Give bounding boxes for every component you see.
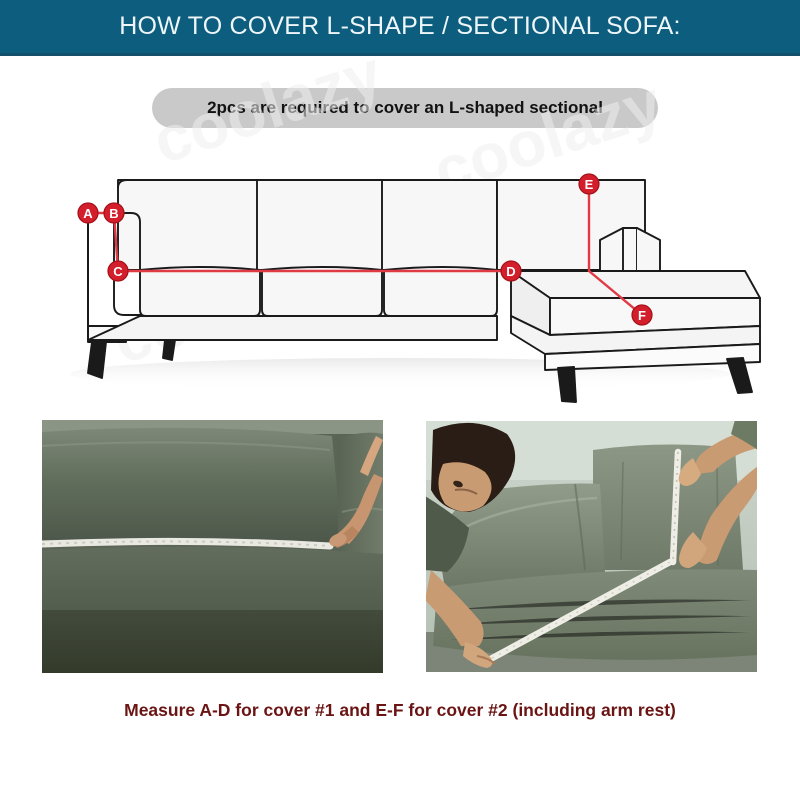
- photo-left-graphic: [42, 420, 383, 673]
- photo-left-vignette: [42, 610, 383, 673]
- marker-d[interactable]: D: [501, 261, 521, 281]
- requirement-banner: 2pcs are required to cover an L-shaped s…: [152, 88, 658, 128]
- seat-cushion-3: [384, 267, 497, 316]
- requirement-banner-label: 2pcs are required to cover an L-shaped s…: [207, 98, 603, 118]
- photo-measure-seat-depth: [42, 420, 383, 673]
- sofa-line-drawing: A B C D E F: [0, 130, 800, 410]
- marker-b-label: B: [109, 206, 118, 221]
- page-title: HOW TO COVER L-SHAPE / SECTIONAL SOFA:: [119, 12, 680, 41]
- bottom-caption-label: Measure A-D for cover #1 and E-F for cov…: [124, 700, 676, 720]
- marker-c-label: C: [113, 264, 123, 279]
- header-bar: HOW TO COVER L-SHAPE / SECTIONAL SOFA:: [0, 0, 800, 53]
- chaise-leg-left: [558, 367, 576, 402]
- marker-d-label: D: [506, 264, 515, 279]
- sofa-back-cushion: [42, 428, 342, 544]
- marker-c[interactable]: C: [108, 261, 128, 281]
- marker-a-label: A: [83, 206, 93, 221]
- sofa-diagram: A B C D E F: [0, 130, 800, 410]
- photo-measure-sofa-length: [425, 420, 758, 673]
- header-divider: [0, 53, 800, 56]
- seat-cushion-1: [140, 267, 260, 316]
- chaise-seat-top: [511, 271, 760, 298]
- sofa-seat-right: [433, 569, 758, 659]
- seat-cushion-2: [262, 267, 382, 316]
- marker-a[interactable]: A: [78, 203, 98, 223]
- marker-f[interactable]: F: [632, 305, 652, 325]
- sofa-leg-left: [88, 342, 106, 378]
- marker-e[interactable]: E: [579, 174, 599, 194]
- sofa-base-skirt: [88, 316, 497, 340]
- sofa-leg-left-rear: [163, 340, 175, 360]
- marker-b[interactable]: B: [104, 203, 124, 223]
- bottom-caption: Measure A-D for cover #1 and E-F for cov…: [0, 700, 800, 721]
- photo-row: [0, 420, 800, 673]
- photo-right-graphic: [425, 420, 758, 673]
- marker-f-label: F: [638, 308, 646, 323]
- marker-e-label: E: [585, 177, 594, 192]
- sofa-backrest: [118, 180, 497, 270]
